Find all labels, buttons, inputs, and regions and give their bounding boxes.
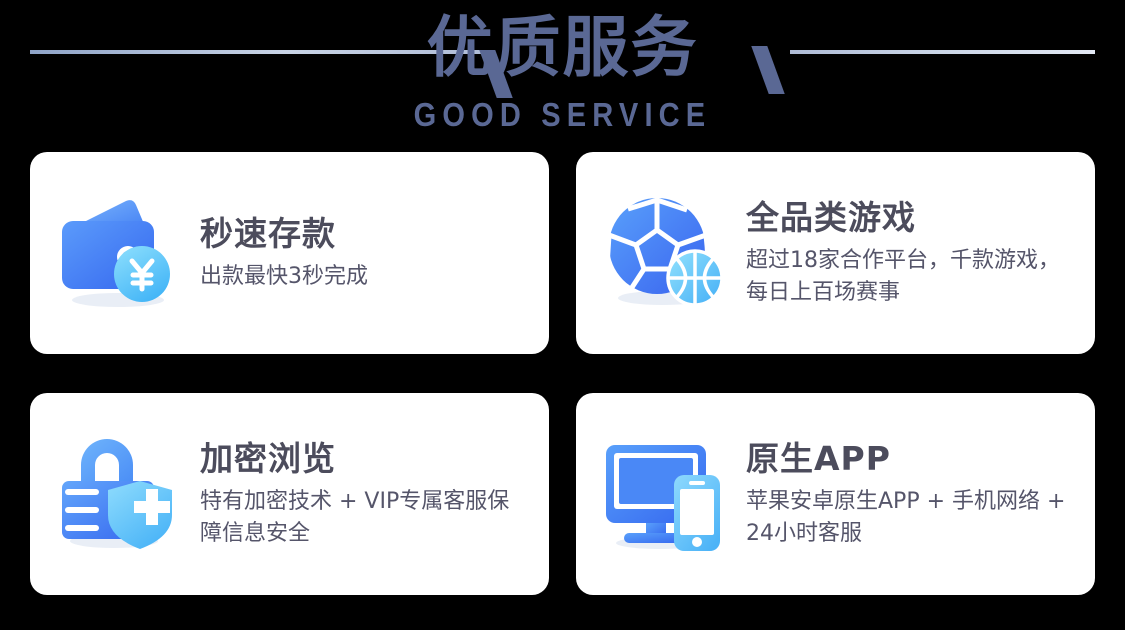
card-title: 原生APP [746, 438, 1095, 480]
feature-card-games[interactable]: 全品类游戏 超过18家合作平台，千款游戏，每日上百场赛事 [576, 152, 1095, 354]
page-header: 优质服务 GOOD SERVICE [0, 0, 1125, 150]
monitor-phone-icon [602, 429, 732, 559]
card-description: 苹果安卓原生APP + 手机网络 + 24小时客服 [746, 486, 1081, 550]
card-title: 全品类游戏 [746, 197, 1095, 239]
card-text-block: 全品类游戏 超过18家合作平台，千款游戏，每日上百场赛事 [746, 197, 1095, 309]
card-text-block: 原生APP 苹果安卓原生APP + 手机网络 + 24小时客服 [746, 438, 1095, 550]
lock-shield-icon [56, 429, 186, 559]
feature-card-native-app[interactable]: 原生APP 苹果安卓原生APP + 手机网络 + 24小时客服 [576, 393, 1095, 595]
soccer-basketball-icon [602, 188, 732, 318]
wallet-yen-icon [56, 188, 186, 318]
card-description: 出款最快3秒完成 [200, 261, 530, 293]
page-title: 优质服务 [0, 8, 1125, 88]
card-text-block: 加密浏览 特有加密技术 + VIP专属客服保障信息安全 [200, 438, 549, 550]
feature-card-grid: 秒速存款 出款最快3秒完成 [30, 152, 1095, 595]
page-subtitle: GOOD SERVICE [68, 96, 1058, 134]
card-description: 特有加密技术 + VIP专属客服保障信息安全 [200, 486, 530, 550]
card-title: 加密浏览 [200, 438, 549, 480]
feature-card-deposit[interactable]: 秒速存款 出款最快3秒完成 [30, 152, 549, 354]
feature-card-encryption[interactable]: 加密浏览 特有加密技术 + VIP专属客服保障信息安全 [30, 393, 549, 595]
card-title: 秒速存款 [200, 213, 549, 255]
card-text-block: 秒速存款 出款最快3秒完成 [200, 213, 549, 293]
card-description: 超过18家合作平台，千款游戏，每日上百场赛事 [746, 245, 1081, 309]
